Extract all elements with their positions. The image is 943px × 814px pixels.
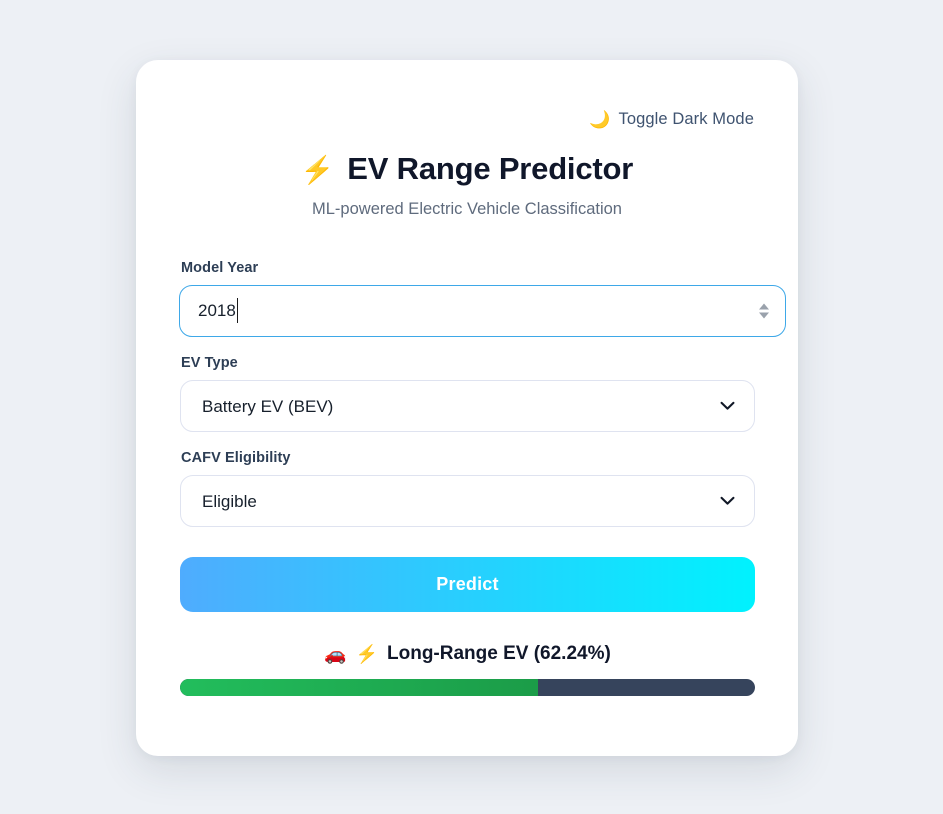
cafv-eligibility-select[interactable]: Eligible xyxy=(180,475,755,527)
page-title-text: EV Range Predictor xyxy=(347,152,633,186)
ev-type-select[interactable]: Battery EV (BEV) xyxy=(180,380,755,432)
toggle-dark-mode-label: Toggle Dark Mode xyxy=(618,110,754,129)
card-header: ⚡ EV Range Predictor ML-powered Electric… xyxy=(136,152,798,219)
predict-button[interactable]: Predict xyxy=(180,557,755,612)
prediction-label: Long-Range EV (62.24%) xyxy=(387,644,611,665)
lightning-bolt-icon: ⚡ xyxy=(301,157,334,184)
page-title: ⚡ EV Range Predictor xyxy=(136,152,798,186)
confidence-progress-fill xyxy=(180,679,538,696)
prediction-result-text: 🚗 ⚡ Long-Range EV (62.24%) xyxy=(180,644,755,665)
page-subtitle: ML-powered Electric Vehicle Classificati… xyxy=(136,200,798,219)
model-year-input[interactable] xyxy=(179,285,786,337)
model-year-input-wrapper xyxy=(179,285,786,337)
stepper-down-icon[interactable] xyxy=(759,313,769,319)
stepper-up-icon[interactable] xyxy=(759,304,769,310)
ev-type-select-wrapper: Battery EV (BEV) xyxy=(180,380,755,432)
toggle-dark-mode-button[interactable]: 🌙 Toggle Dark Mode xyxy=(589,110,754,129)
moon-icon: 🌙 xyxy=(589,111,610,128)
quantity-stepper[interactable] xyxy=(759,304,769,319)
car-icon: 🚗 xyxy=(324,645,346,663)
app-root: 🌙 Toggle Dark Mode ⚡ EV Range Predictor … xyxy=(0,0,943,814)
model-year-field-group: Model Year xyxy=(180,260,755,337)
predictor-card: 🌙 Toggle Dark Mode ⚡ EV Range Predictor … xyxy=(136,60,798,756)
prediction-form: Model Year EV Type Battery EV (BEV) xyxy=(180,260,755,696)
prediction-result: 🚗 ⚡ Long-Range EV (62.24%) xyxy=(180,644,755,696)
cafv-eligibility-field-group: CAFV Eligibility Eligible xyxy=(180,450,755,527)
cafv-eligibility-label: CAFV Eligibility xyxy=(181,450,755,466)
confidence-progress-track xyxy=(180,679,755,696)
lightning-bolt-icon: ⚡ xyxy=(356,645,378,663)
model-year-label: Model Year xyxy=(181,260,755,276)
ev-type-field-group: EV Type Battery EV (BEV) xyxy=(180,355,755,432)
cafv-eligibility-select-wrapper: Eligible xyxy=(180,475,755,527)
ev-type-label: EV Type xyxy=(181,355,755,371)
text-cursor xyxy=(237,298,238,323)
